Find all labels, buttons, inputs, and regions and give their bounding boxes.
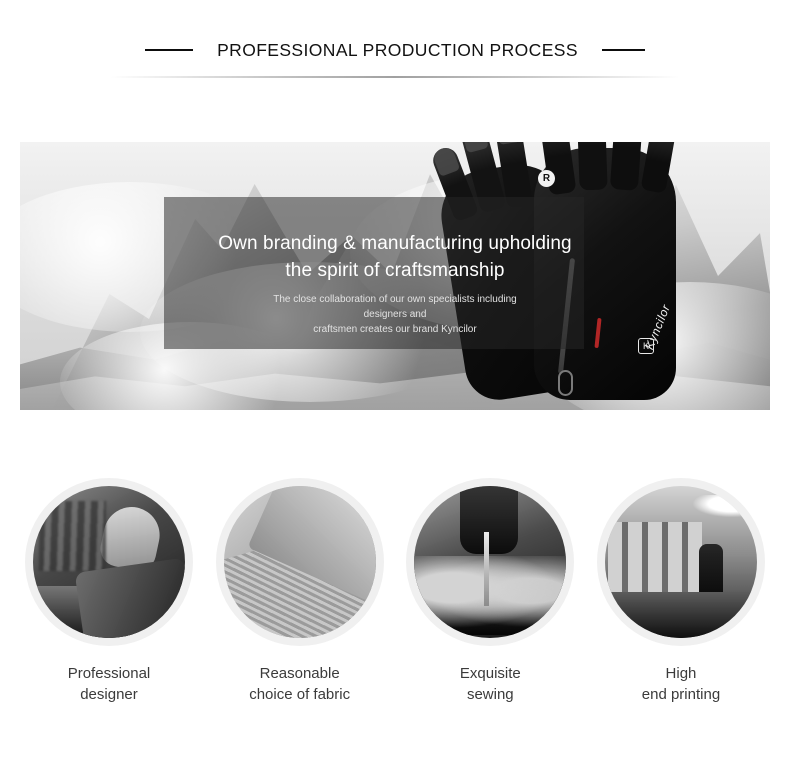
feature-image-designer: [33, 486, 185, 638]
feature-circle-ring: [25, 478, 193, 646]
feature-image-sewing: [414, 486, 566, 638]
title-row: PROFESSIONAL PRODUCTION PROCESS: [0, 36, 790, 64]
feature-image-printing: [605, 486, 757, 638]
banner-heading: Own branding & manufacturing upholding t…: [20, 230, 770, 284]
page-title: PROFESSIONAL PRODUCTION PROCESS: [217, 40, 578, 61]
feature-caption: High end printing: [642, 663, 720, 705]
feature-caption-line-2: designer: [68, 684, 151, 705]
feature-caption-line-1: High: [642, 663, 720, 684]
banner-subtext-line-3: craftsmen creates our brand Kyncilor: [20, 322, 770, 337]
header-divider: [0, 76, 790, 78]
hero-banner: Kyncilor K R Own branding & manufacturin…: [20, 142, 770, 410]
zipper-pull-icon: [558, 370, 573, 396]
feature-caption: Professional designer: [68, 663, 151, 705]
feature-circle-ring: [216, 478, 384, 646]
glove-front-finger-4: [640, 142, 676, 194]
banner-subtext-line-2: designers and: [20, 307, 770, 322]
page-header: PROFESSIONAL PRODUCTION PROCESS: [0, 0, 790, 100]
feature-caption-line-1: Exquisite: [460, 663, 521, 684]
title-rule-left-icon: [145, 49, 193, 51]
feature-caption-line-2: sewing: [460, 684, 521, 705]
fingertip-pad-icon: [495, 142, 521, 145]
feature-item-sewing: Exquisite sewing: [401, 478, 579, 728]
feature-caption-line-1: Professional: [68, 663, 151, 684]
glove-front-finger-1: [538, 142, 576, 195]
brand-badge-icon: K: [638, 338, 654, 354]
banner-subtext: The close collaboration of our own speci…: [20, 292, 770, 337]
feature-caption-line-2: end printing: [642, 684, 720, 705]
feature-caption: Exquisite sewing: [460, 663, 521, 705]
feature-circle-ring: [597, 478, 765, 646]
feature-circle-ring: [406, 478, 574, 646]
feature-item-designer: Professional designer: [20, 478, 198, 728]
banner-heading-line-2: the spirit of craftsmanship: [20, 257, 770, 284]
feature-caption-line-2: choice of fabric: [249, 684, 350, 705]
feature-item-fabric: Reasonable choice of fabric: [211, 478, 389, 728]
banner-heading-line-1: Own branding & manufacturing upholding: [20, 230, 770, 257]
glove-front-finger-3: [610, 142, 644, 191]
feature-caption-line-1: Reasonable: [249, 663, 350, 684]
feature-list: Professional designer Reasonable choice …: [0, 478, 790, 728]
ceiling-lamp: [693, 495, 757, 517]
feature-image-fabric: [224, 486, 376, 638]
workshop-tools: [39, 501, 106, 571]
product-detail-page: PROFESSIONAL PRODUCTION PROCESS: [0, 0, 790, 759]
glove-front-finger-2: [576, 142, 607, 190]
feature-caption: Reasonable choice of fabric: [249, 663, 350, 705]
sewing-hands: [414, 556, 566, 635]
touchscreen-marker-icon: R: [538, 170, 555, 187]
fingertip-pad-icon: [461, 142, 489, 153]
feature-item-printing: High end printing: [592, 478, 770, 728]
factory-worker: [699, 544, 723, 606]
title-rule-right-icon: [602, 49, 645, 51]
banner-subtext-line-1: The close collaboration of our own speci…: [20, 292, 770, 307]
workbench: [33, 586, 185, 638]
